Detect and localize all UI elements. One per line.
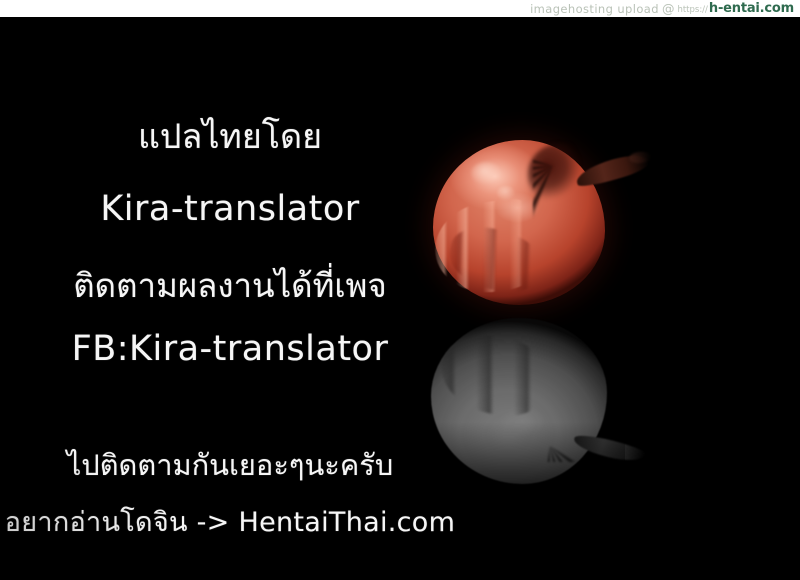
- at-symbol-icon: @: [662, 1, 675, 16]
- credit-line-translated-by: แปลไทยโดย: [0, 109, 460, 163]
- apple-highlight-primary: [471, 162, 501, 184]
- page-root: imagehosting upload @ https:// h-entai.c…: [0, 0, 800, 580]
- watermark-bar: imagehosting upload @ https:// h-entai.c…: [0, 0, 800, 17]
- credit-line-facebook-page: FB:Kira-translator: [0, 329, 460, 369]
- watermark-domain-link[interactable]: h-entai.com: [709, 1, 794, 16]
- credit-line-site-link: อยากอ่านโดจิน -> HentaiThai.com: [0, 500, 460, 543]
- watermark-protocol-text: https://: [677, 5, 707, 15]
- credit-line-translator-name: Kira-translator: [0, 189, 460, 229]
- credit-line-follow-invite: ไปติดตามกันเยอะๆนะครับ: [0, 442, 460, 488]
- apple-calyx-bristles: [533, 150, 603, 222]
- credit-line-follow-page: ติดตามผลงานได้ที่เพจ: [0, 259, 460, 312]
- artwork-stage: แปลไทยโดย Kira-translator ติดตามผลงานได้…: [0, 17, 800, 580]
- watermark-prefix-text: imagehosting upload: [530, 2, 659, 16]
- apple-highlight-secondary: [497, 186, 515, 200]
